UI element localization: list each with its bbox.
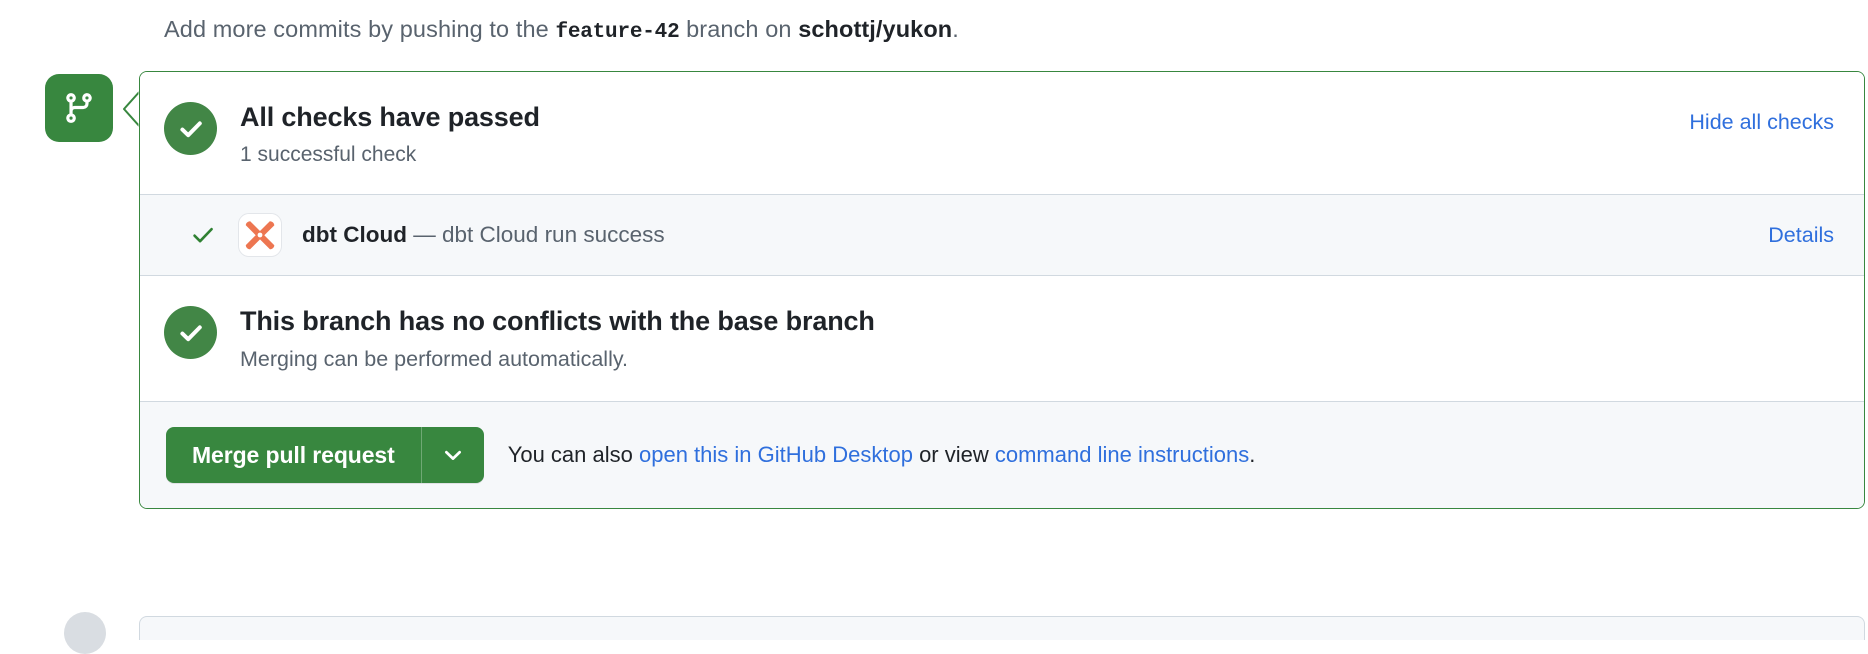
command-line-instructions-link[interactable]: command line instructions (995, 442, 1249, 467)
merge-actions-section: Merge pull request You can also open thi… (140, 402, 1864, 508)
checks-subtitle: 1 successful check (240, 141, 1689, 168)
conflicts-status-icon (164, 306, 217, 359)
check-row[interactable]: dbt Cloud — dbt Cloud run success Detail… (140, 195, 1864, 276)
repository-name: schottj/yukon (798, 16, 952, 42)
check-description: dbt Cloud run success (442, 222, 665, 247)
push-notice-prefix: Add more commits by pushing to the (164, 16, 549, 42)
merge-status-box: All checks have passed 1 successful chec… (139, 71, 1865, 509)
merge-help-suffix: . (1249, 442, 1255, 467)
hide-all-checks-link[interactable]: Hide all checks (1689, 108, 1834, 136)
merge-button-group[interactable]: Merge pull request (166, 427, 484, 483)
conflicts-title: This branch has no conflicts with the ba… (240, 304, 875, 338)
conflicts-section: This branch has no conflicts with the ba… (140, 276, 1864, 402)
check-details-link[interactable]: Details (1768, 221, 1834, 249)
next-timeline-card (139, 616, 1865, 640)
push-commits-notice: Add more commits by pushing to the featu… (164, 13, 959, 49)
merge-help-prefix: You can also (508, 442, 633, 467)
checks-status-icon (164, 102, 217, 155)
conflicts-text: This branch has no conflicts with the ba… (240, 304, 875, 373)
merge-help-middle: or view (919, 442, 989, 467)
merge-status-badge (45, 74, 113, 142)
checks-summary-section: All checks have passed 1 successful chec… (140, 72, 1864, 195)
check-icon (188, 222, 218, 248)
check-label: dbt Cloud — dbt Cloud run success (302, 220, 665, 250)
dbt-cloud-logo (238, 213, 282, 257)
branch-name: feature-42 (555, 21, 679, 44)
open-in-github-desktop-link[interactable]: open this in GitHub Desktop (639, 442, 913, 467)
check-name: dbt Cloud (302, 222, 407, 247)
pull-request-merge-panel: Add more commits by pushing to the featu… (0, 0, 1868, 626)
check-separator: — (413, 222, 436, 247)
push-notice-middle: branch on (686, 16, 791, 42)
conflicts-subtitle: Merging can be performed automatically. (240, 345, 875, 373)
chevron-down-icon (442, 444, 464, 466)
git-branch-icon (62, 91, 96, 125)
merge-pull-request-button[interactable]: Merge pull request (166, 427, 421, 483)
checks-title: All checks have passed (240, 100, 1689, 134)
push-notice-suffix: . (952, 16, 959, 42)
merge-help-text: You can also open this in GitHub Desktop… (508, 440, 1256, 470)
checks-summary-text: All checks have passed 1 successful chec… (240, 100, 1689, 168)
avatar (64, 612, 106, 654)
merge-dropdown-button[interactable] (421, 427, 484, 483)
